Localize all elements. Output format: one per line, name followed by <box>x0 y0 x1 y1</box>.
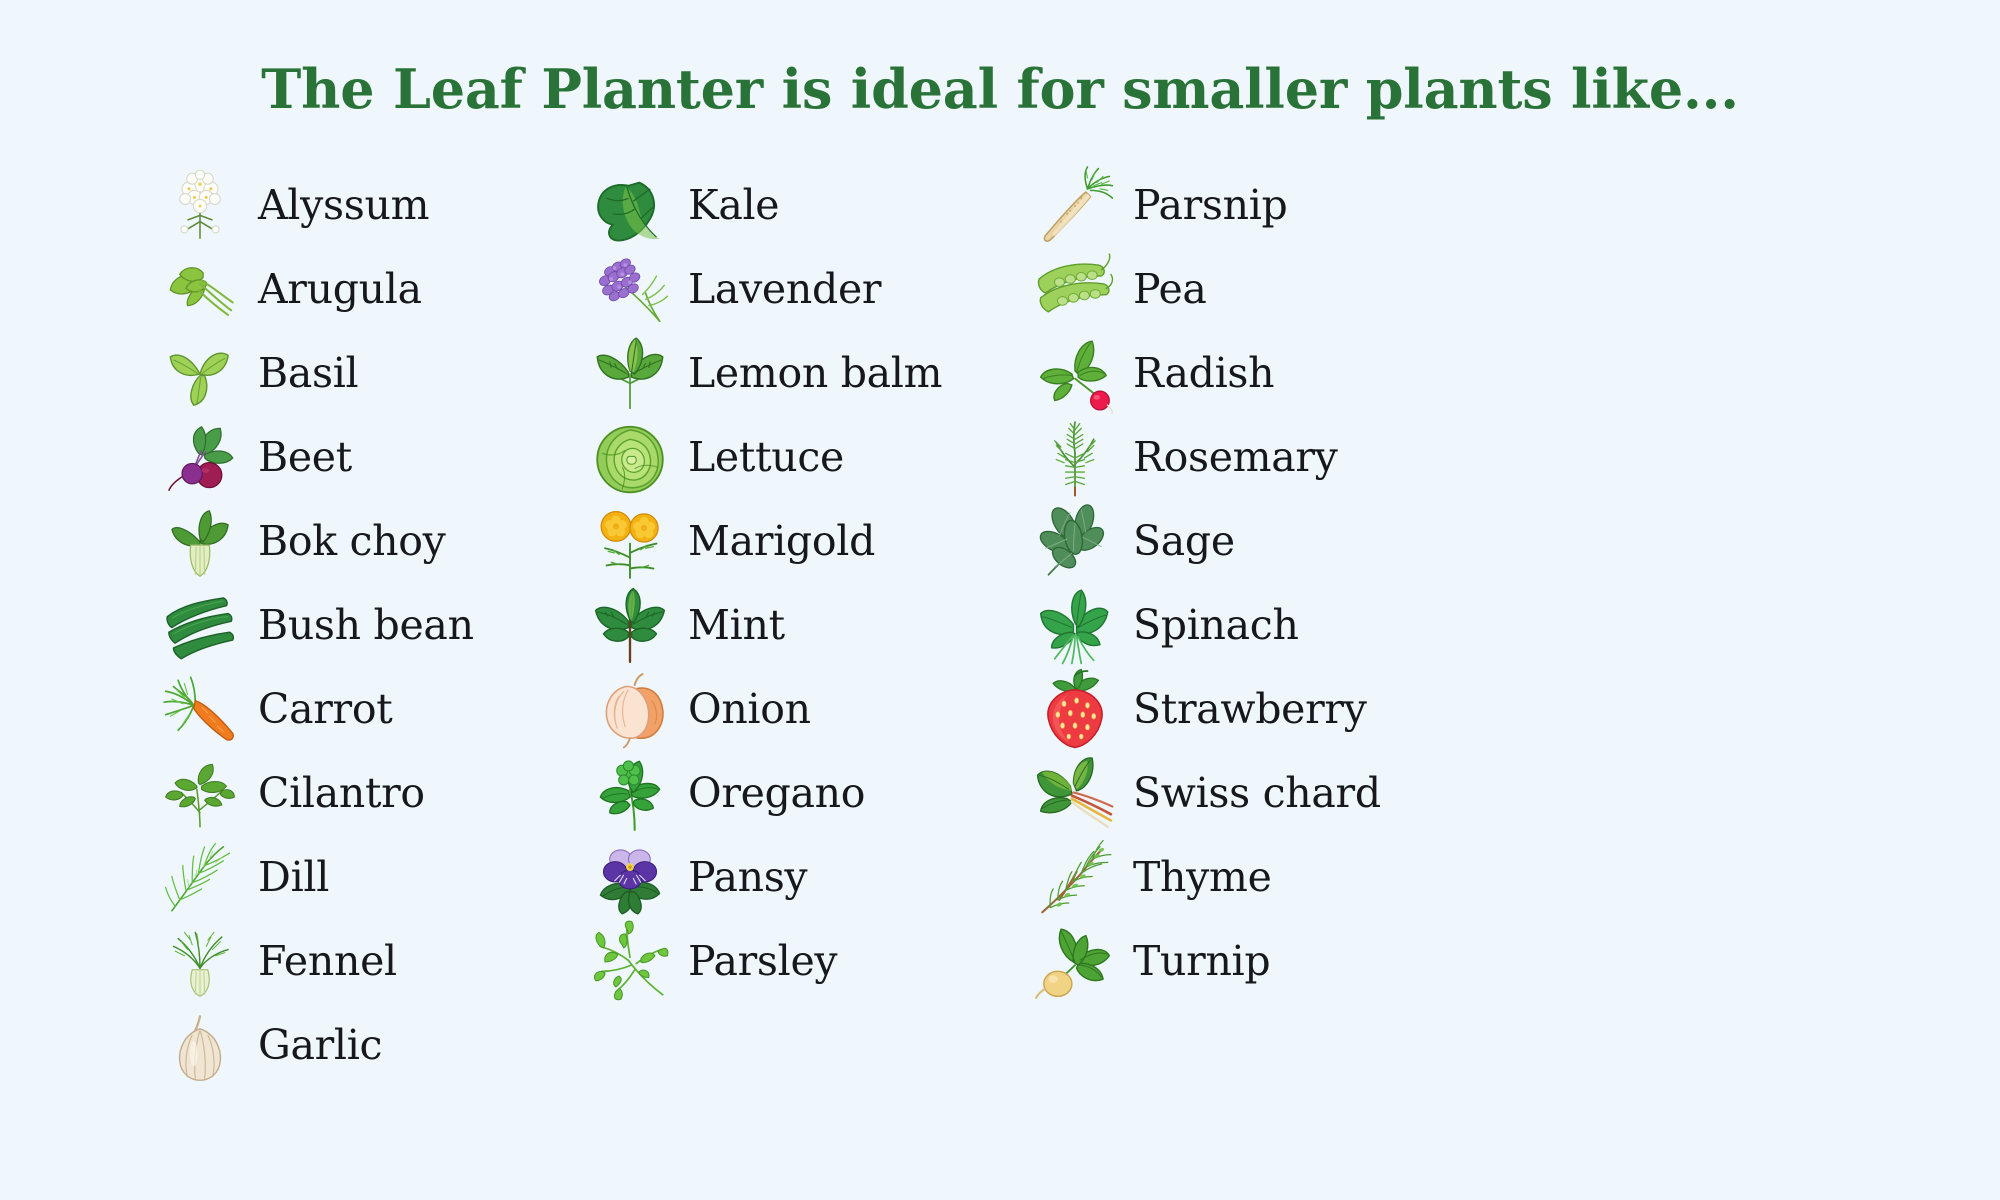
plant-list-item: Mint <box>580 584 1025 668</box>
plant-name-label: Cilantro <box>250 773 425 814</box>
plant-list-item: Swiss chard <box>1025 752 1485 836</box>
carrot-icon <box>150 668 250 752</box>
plant-list-item: Pansy <box>580 836 1025 920</box>
plant-list-item: Turnip <box>1025 920 1485 1004</box>
plant-list-item: Alyssum <box>150 164 580 248</box>
cilantro-icon <box>150 752 250 836</box>
plant-list-item: Thyme <box>1025 836 1485 920</box>
plant-list-item: Fennel <box>150 920 580 1004</box>
plant-name-label: Bush bean <box>250 605 474 646</box>
dill-icon <box>150 836 250 920</box>
strawberry-icon <box>1025 668 1125 752</box>
beet-icon <box>150 416 250 500</box>
plant-name-label: Fennel <box>250 941 397 982</box>
plant-list-infographic: The Leaf Planter is ideal for smaller pl… <box>0 0 2000 1200</box>
plant-list-item: Strawberry <box>1025 668 1485 752</box>
plant-list-item: Lemon balm <box>580 332 1025 416</box>
alyssum-icon <box>150 164 250 248</box>
plant-list-item: Beet <box>150 416 580 500</box>
lettuce-icon <box>580 416 680 500</box>
plant-name-label: Parsnip <box>1125 185 1288 226</box>
plant-name-label: Turnip <box>1125 941 1270 982</box>
fennel-icon <box>150 920 250 1004</box>
turnip-icon <box>1025 920 1125 1004</box>
plant-list-item: Carrot <box>150 668 580 752</box>
plant-name-label: Strawberry <box>1125 689 1367 730</box>
plant-list-item: Rosemary <box>1025 416 1485 500</box>
plant-name-label: Mint <box>680 605 785 646</box>
plant-name-label: Kale <box>680 185 779 226</box>
plant-name-label: Onion <box>680 689 811 730</box>
plant-name-label: Rosemary <box>1125 437 1338 478</box>
plant-name-label: Thyme <box>1125 857 1272 898</box>
plant-name-label: Parsley <box>680 941 837 982</box>
plant-list-item: Onion <box>580 668 1025 752</box>
plant-name-label: Radish <box>1125 353 1274 394</box>
lavender-icon <box>580 248 680 332</box>
plant-name-label: Spinach <box>1125 605 1299 646</box>
thyme-icon <box>1025 836 1125 920</box>
plant-list-item: Basil <box>150 332 580 416</box>
sage-icon <box>1025 500 1125 584</box>
plant-name-label: Lettuce <box>680 437 844 478</box>
plant-list-item: Sage <box>1025 500 1485 584</box>
parsley-icon <box>580 920 680 1004</box>
plant-name-label: Garlic <box>250 1025 382 1066</box>
bush-bean-icon <box>150 584 250 668</box>
plant-list-item: Lettuce <box>580 416 1025 500</box>
plant-name-label: Lemon balm <box>680 353 942 394</box>
onion-icon <box>580 668 680 752</box>
lemon-balm-icon <box>580 332 680 416</box>
plant-list-item: Lavender <box>580 248 1025 332</box>
arugula-icon <box>150 248 250 332</box>
plant-name-label: Alyssum <box>250 185 429 226</box>
marigold-icon <box>580 500 680 584</box>
pea-icon <box>1025 248 1125 332</box>
plant-columns: Alyssum Arugula Ba <box>0 164 2000 1088</box>
page-title: The Leaf Planter is ideal for smaller pl… <box>0 58 2000 122</box>
plant-column-1: Alyssum Arugula Ba <box>150 164 580 1088</box>
plant-list-item: Marigold <box>580 500 1025 584</box>
plant-list-item: Kale <box>580 164 1025 248</box>
plant-list-item: Spinach <box>1025 584 1485 668</box>
plant-name-label: Pansy <box>680 857 807 898</box>
plant-list-item: Oregano <box>580 752 1025 836</box>
garlic-icon <box>150 1004 250 1088</box>
spinach-icon <box>1025 584 1125 668</box>
plant-name-label: Pea <box>1125 269 1207 310</box>
plant-name-label: Swiss chard <box>1125 773 1381 814</box>
bok-choy-icon <box>150 500 250 584</box>
plant-name-label: Arugula <box>250 269 422 310</box>
plant-name-label: Sage <box>1125 521 1235 562</box>
plant-list-item: Bush bean <box>150 584 580 668</box>
rosemary-icon <box>1025 416 1125 500</box>
plant-list-item: Dill <box>150 836 580 920</box>
plant-name-label: Beet <box>250 437 352 478</box>
plant-list-item: Parsley <box>580 920 1025 1004</box>
pansy-icon <box>580 836 680 920</box>
oregano-icon <box>580 752 680 836</box>
mint-icon <box>580 584 680 668</box>
plant-name-label: Lavender <box>680 269 881 310</box>
plant-name-label: Dill <box>250 857 329 898</box>
basil-icon <box>150 332 250 416</box>
plant-list-item: Garlic <box>150 1004 580 1088</box>
parsnip-icon <box>1025 164 1125 248</box>
radish-icon <box>1025 332 1125 416</box>
plant-list-item: Cilantro <box>150 752 580 836</box>
heading-container: The Leaf Planter is ideal for smaller pl… <box>0 0 2000 122</box>
plant-name-label: Marigold <box>680 521 875 562</box>
plant-column-3: Parsnip Pea <box>1025 164 1485 1004</box>
swiss-chard-icon <box>1025 752 1125 836</box>
plant-name-label: Basil <box>250 353 358 394</box>
plant-name-label: Bok choy <box>250 521 446 562</box>
plant-list-item: Bok choy <box>150 500 580 584</box>
plant-list-item: Arugula <box>150 248 580 332</box>
plant-list-item: Parsnip <box>1025 164 1485 248</box>
plant-list-item: Radish <box>1025 332 1485 416</box>
kale-icon <box>580 164 680 248</box>
plant-list-item: Pea <box>1025 248 1485 332</box>
plant-column-2: Kale <box>580 164 1025 1004</box>
plant-name-label: Carrot <box>250 689 392 730</box>
plant-name-label: Oregano <box>680 773 865 814</box>
